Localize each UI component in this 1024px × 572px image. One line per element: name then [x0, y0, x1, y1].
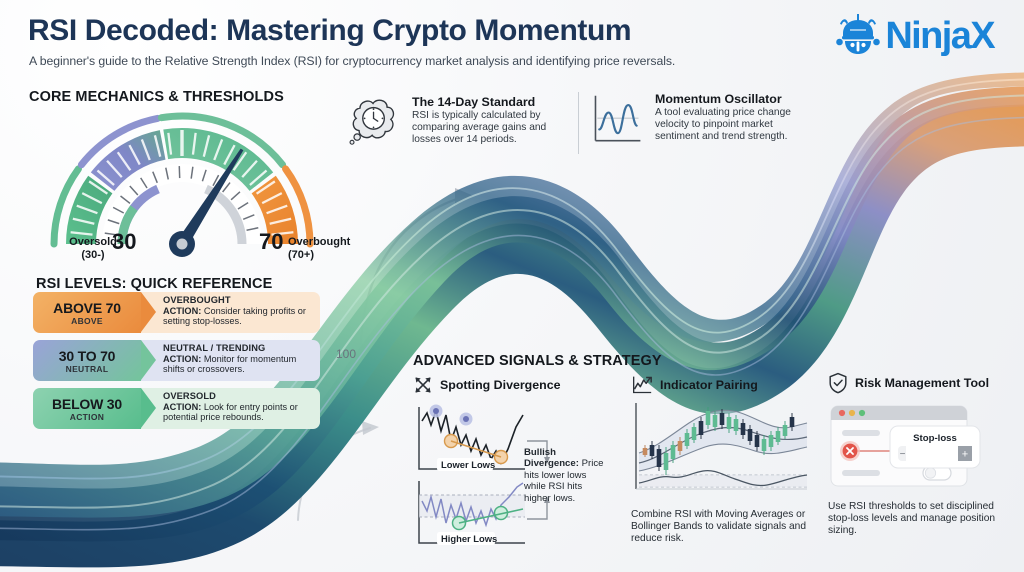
panel-header: Risk Management Tool	[828, 372, 1008, 394]
advanced-signals-heading: ADVANCED SIGNALS & STRATEGY	[413, 353, 662, 369]
level-badge-neutral: 30 TO 70 NEUTRAL	[33, 340, 141, 381]
level-badge-overbought: ABOVE 70 ABOVE	[33, 292, 141, 333]
level-action: ACTION: Consider taking profits or setti…	[163, 306, 314, 327]
panel-title: Spotting Divergence	[440, 378, 560, 392]
level-body: NEUTRAL / TRENDING ACTION: Monitor for m…	[141, 340, 320, 381]
info-card-oscillator: Momentum Oscillator A tool evaluating pr…	[588, 92, 810, 150]
brand-logo[interactable]: NinjaX	[835, 14, 994, 58]
crossing-arrows-icon	[413, 375, 433, 395]
level-badge-oversold: BELOW 30 ACTION	[33, 388, 141, 429]
panel-indicator-pairing: Indicator Pairing	[631, 375, 816, 546]
shield-check-icon	[828, 372, 848, 394]
samurai-helmet-icon	[835, 14, 881, 58]
window-dot-yellow	[849, 410, 855, 416]
trend-chart-icon	[631, 375, 653, 395]
level-title: OVERSOLD	[163, 391, 314, 402]
page-subtitle: A beginner's guide to the Relative Stren…	[29, 54, 675, 68]
thought-bubble-clock-icon	[345, 95, 403, 153]
panel-title: Indicator Pairing	[660, 378, 758, 392]
stepper-minus: −	[900, 449, 906, 460]
gauge-max-label: 100	[336, 347, 356, 361]
card-divider	[578, 92, 579, 154]
level-key: ABOVE 70	[53, 300, 121, 316]
bullish-divergence-note: Bullish Divergence: Price hits lower low…	[524, 447, 610, 504]
panel-risk-management: Risk Management Tool	[828, 372, 1008, 538]
levels-heading: RSI LEVELS: QUICK REFERENCE	[36, 276, 272, 292]
gauge-low-threshold: 30	[112, 229, 136, 255]
level-title: OVERBOUGHT	[163, 295, 314, 306]
gauge-high-threshold: 70	[259, 229, 283, 255]
level-action: ACTION: Monitor for momentum shifts or c…	[163, 354, 314, 375]
card-text: RSI is typically calculated by comparing…	[412, 110, 575, 146]
card-title: The 14-Day Standard	[412, 95, 575, 109]
stepper-plus: +	[962, 449, 968, 461]
panel-header: Indicator Pairing	[631, 375, 816, 395]
panel-header: Spotting Divergence	[413, 375, 613, 395]
table-row[interactable]: 30 TO 70 NEUTRAL NEUTRAL / TRENDING ACTI…	[33, 340, 320, 381]
window-dot-red	[839, 410, 845, 416]
candlestick-chart[interactable]	[631, 401, 814, 501]
table-row[interactable]: BELOW 30 ACTION OVERSOLD ACTION: Look fo…	[33, 388, 320, 429]
rsi-levels-table: ABOVE 70 ABOVE OVERBOUGHT ACTION: Consid…	[33, 292, 320, 436]
stop-loss-widget[interactable]: Stop-loss − +	[828, 400, 993, 492]
card-text: A tool evaluating price change velocity …	[655, 107, 810, 143]
level-key: BELOW 30	[52, 396, 122, 412]
level-key: 30 TO 70	[59, 348, 116, 364]
oscillator-wave-icon	[588, 92, 646, 150]
panel-text: Combine RSI with Moving Averages or Boll…	[631, 509, 816, 546]
table-row[interactable]: ABOVE 70 ABOVE OVERBOUGHT ACTION: Consid…	[33, 292, 320, 333]
level-sub: ACTION	[70, 412, 104, 422]
core-mechanics-heading: CORE MECHANICS & THRESHOLDS	[29, 89, 284, 105]
level-body: OVERBOUGHT ACTION: Consider taking profi…	[141, 292, 320, 333]
info-card-14-day: The 14-Day Standard RSI is typically cal…	[345, 95, 575, 153]
panel-text: Use RSI thresholds to set disciplined st…	[828, 501, 1008, 538]
chart-label-higher-lows: Higher Lows	[441, 533, 497, 544]
page-title: RSI Decoded: Mastering Crypto Momentum	[28, 14, 631, 48]
level-sub: ABOVE	[71, 316, 103, 326]
stop-loss-label: Stop-loss	[913, 433, 957, 444]
level-title: NEUTRAL / TRENDING	[163, 343, 314, 354]
note-title: Bullish Divergence:	[524, 447, 579, 469]
gauge-overbought-label: Overbought (70+)	[288, 236, 372, 262]
infographic-canvas: RSI Decoded: Mastering Crypto Momentum A…	[0, 0, 1024, 572]
logo-text: NinjaX	[885, 15, 994, 58]
level-sub: NEUTRAL	[66, 364, 109, 374]
chart-label-lower-lows: Lower Lows	[441, 459, 495, 470]
panel-title: Risk Management Tool	[855, 376, 989, 390]
window-dot-green	[859, 410, 865, 416]
level-body: OVERSOLD ACTION: Look for entry points o…	[141, 388, 320, 429]
level-action: ACTION: Look for entry points or potenti…	[163, 402, 314, 423]
rsi-gauge: Oversold (30-) 30 70 Overbought (70+) 0 …	[22, 104, 342, 264]
card-title: Momentum Oscillator	[655, 92, 810, 106]
